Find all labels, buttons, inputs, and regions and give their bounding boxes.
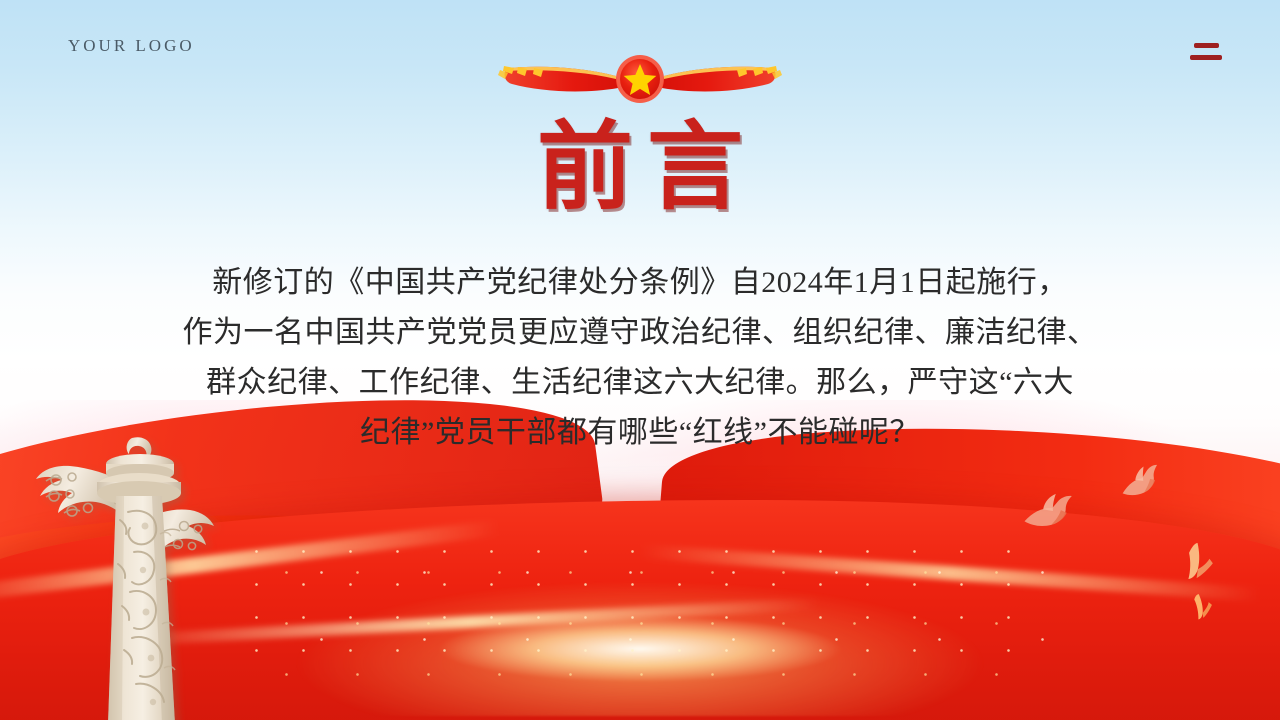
intro-paragraph: 新修订的《中国共产党纪律处分条例》自2024年1月1日起施行， 作为一名中国共产… <box>140 258 1140 458</box>
slide-canvas: YOUR LOGO <box>0 0 1280 720</box>
huabiao-ceremonial-column <box>12 434 232 720</box>
page-title: 前言 <box>0 118 1280 219</box>
glow-sparkles <box>230 530 1050 680</box>
dove-icon-2 <box>1114 460 1168 506</box>
intro-line-3: 群众纪律、工作纪律、生活纪律这六大纪律。那么，严守这“六大 <box>140 358 1140 408</box>
silk-sheen-left <box>0 520 499 604</box>
dove-icon-1 <box>1017 488 1082 535</box>
menu-bar-top <box>1194 43 1219 48</box>
menu-bar-bottom <box>1190 55 1222 60</box>
red-ribbon-star-emblem <box>490 52 790 108</box>
intro-line-1: 新修订的《中国共产党纪律处分条例》自2024年1月1日起施行， <box>140 258 1140 308</box>
dove-icon-4 <box>1187 591 1216 622</box>
dove-icon-3 <box>1175 538 1218 585</box>
intro-line-2: 作为一名中国共产党党员更应遵守政治纪律、组织纪律、廉洁纪律、 <box>140 308 1140 358</box>
silk-sheen-right <box>640 544 1259 601</box>
silk-sheen-center <box>120 598 820 647</box>
hamburger-menu-icon[interactable] <box>1188 40 1222 62</box>
logo-text: YOUR LOGO <box>68 36 195 56</box>
silk-ribbon-right-lower <box>747 534 1280 706</box>
intro-line-4: 纪律”党员干部都有哪些“红线”不能碰呢？ <box>140 408 1140 458</box>
silk-ribbon-left-lower <box>0 490 485 695</box>
golden-glow <box>190 476 1090 716</box>
silk-ribbon-main <box>0 500 1280 720</box>
